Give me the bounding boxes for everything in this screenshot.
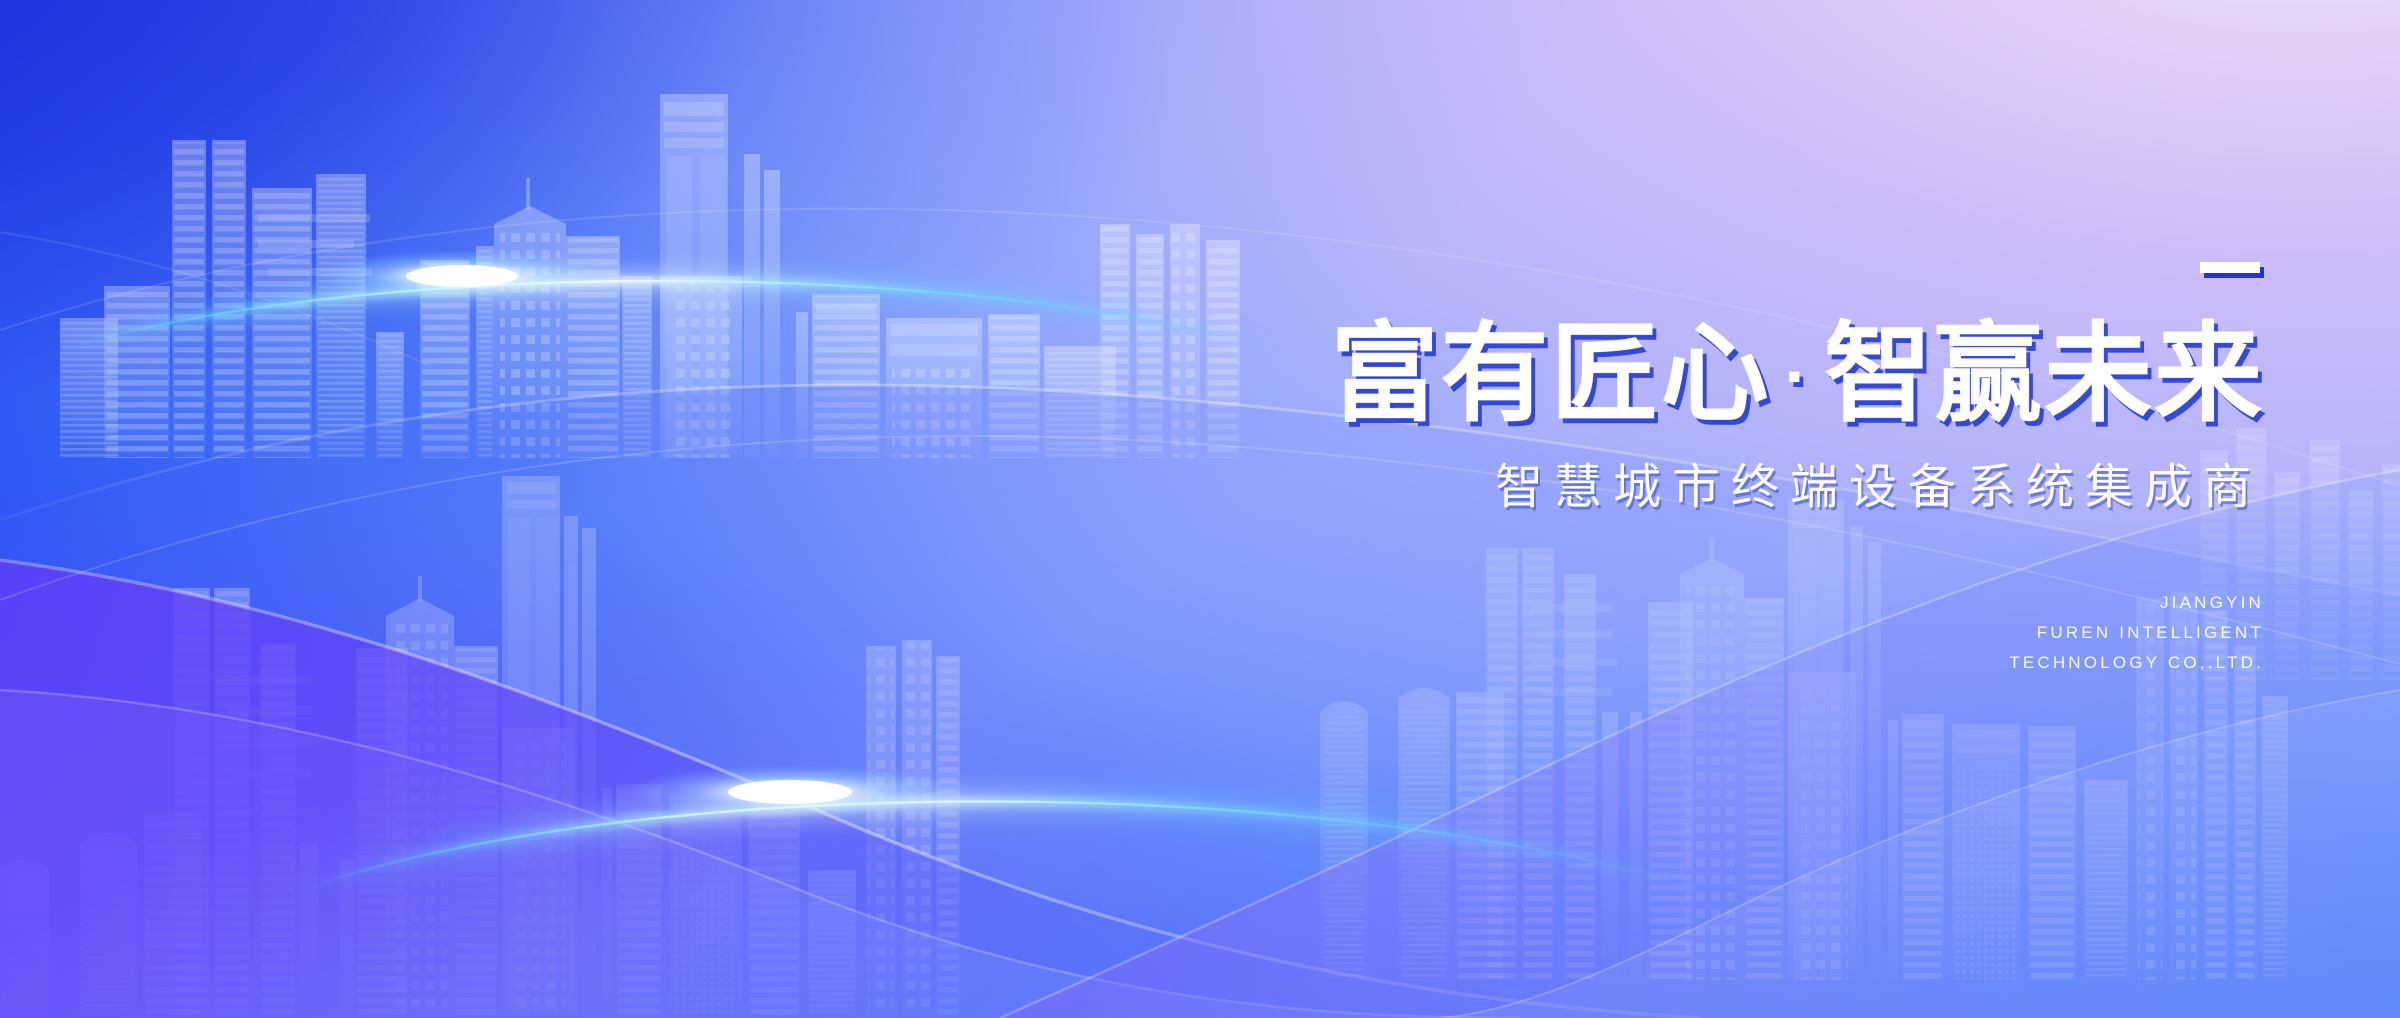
- main-title-left: 富有匠心: [1331, 313, 1771, 434]
- company-name-block: JIANGYIN FUREN INTELLIGENT TECHNOLOGY CO…: [1144, 588, 2264, 677]
- main-title-separator-dot: ·: [1771, 337, 1824, 415]
- company-line-1: JIANGYIN: [1144, 588, 2264, 618]
- sub-title: 智慧城市终端设备系统集成商: [1144, 459, 2264, 517]
- decorative-rule-row: [1144, 262, 2264, 316]
- decorative-dash-icon: [2200, 262, 2260, 273]
- company-line-3: TECHNOLOGY CO,.LTD.: [1144, 648, 2264, 678]
- main-title-right: 智赢未来: [1824, 313, 2264, 434]
- main-title: 富有匠心·智赢未来: [1144, 316, 2264, 433]
- company-line-2: FUREN INTELLIGENT: [1144, 618, 2264, 648]
- banner-text-block: 富有匠心·智赢未来 智慧城市终端设备系统集成商 JIANGYIN FUREN I…: [1144, 262, 2264, 677]
- promo-banner: 富有匠心·智赢未来 智慧城市终端设备系统集成商 JIANGYIN FUREN I…: [0, 0, 2400, 1018]
